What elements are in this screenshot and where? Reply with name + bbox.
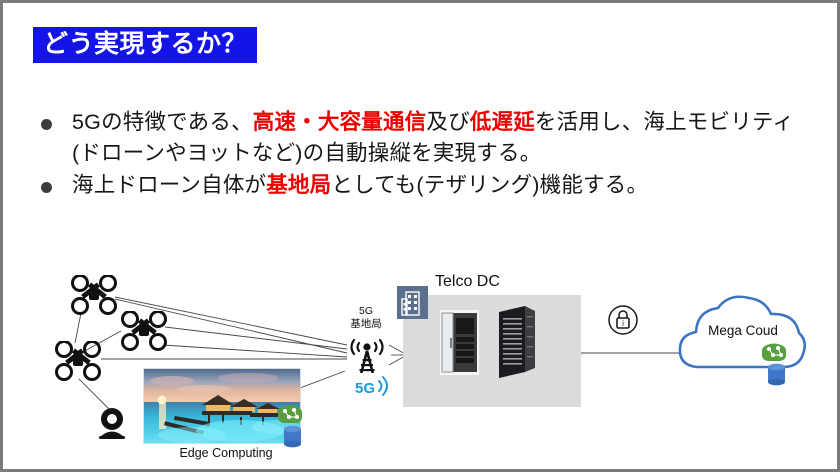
server-rack-open-door	[440, 310, 479, 375]
cloud-label: Mega Coud	[689, 323, 797, 338]
base-station-label: 5G 基地局	[337, 305, 395, 331]
bullet-segment: 5Gの特徴である、	[72, 110, 253, 134]
office-building-icon	[397, 286, 428, 319]
base-station-label-line1: 5G	[337, 305, 395, 318]
telco-dc-panel	[403, 295, 581, 407]
edge-computing-label: Edge Computing	[151, 446, 301, 460]
bullet-segment-emphasis: 基地局	[266, 173, 331, 197]
architecture-diagram: Edge Computing	[3, 253, 837, 469]
svg-text:5G: 5G	[355, 380, 375, 397]
five-g-signal-badge: 5G	[355, 373, 393, 399]
bullet-list: 5Gの特徴である、高速・大容量通信及び低遅延を活用し、海上モビリティ(ドローンや…	[41, 107, 801, 203]
drone-icon	[55, 341, 101, 381]
bullet-segment-emphasis: 高速・大容量通信	[253, 110, 427, 134]
drone-icon	[71, 275, 117, 315]
database-cylinder-icon	[283, 425, 302, 448]
bullet-segment-emphasis: 低遅延	[470, 110, 535, 134]
cell-tower-icon	[347, 333, 387, 375]
brain-circuit-icon	[759, 341, 789, 365]
bullet-text: 海上ドローン自体が基地局としても(テザリング)機能する。	[72, 170, 648, 201]
bullet-segment: 及び	[426, 110, 469, 134]
webcam-icon	[95, 407, 129, 439]
slide-canvas: どう実現するか？ 5Gの特徴である、高速・大容量通信及び低遅延を活用し、海上モビ…	[0, 0, 840, 472]
brain-circuit-icon	[275, 403, 305, 427]
bullet-marker-icon	[41, 182, 52, 193]
bullet-item: 海上ドローン自体が基地局としても(テザリング)機能する。	[41, 170, 801, 201]
drone-icon	[121, 311, 167, 351]
base-station-label-line2: 基地局	[337, 318, 395, 331]
bullet-item: 5Gの特徴である、高速・大容量通信及び低遅延を活用し、海上モビリティ(ドローンや…	[41, 107, 801, 168]
bullet-marker-icon	[41, 119, 52, 130]
bullet-text: 5Gの特徴である、高速・大容量通信及び低遅延を活用し、海上モビリティ(ドローンや…	[72, 107, 801, 168]
lock-circle-icon: i	[607, 304, 639, 336]
svg-text:i: i	[622, 319, 624, 328]
server-rack-dark	[495, 306, 537, 378]
database-cylinder-icon	[767, 363, 786, 386]
bullet-segment: としても(テザリング)機能する。	[331, 173, 648, 197]
telco-dc-title: Telco DC	[435, 273, 500, 291]
bullet-segment: 海上ドローン自体が	[72, 173, 266, 197]
slide-title: どう実現するか？	[33, 27, 257, 63]
